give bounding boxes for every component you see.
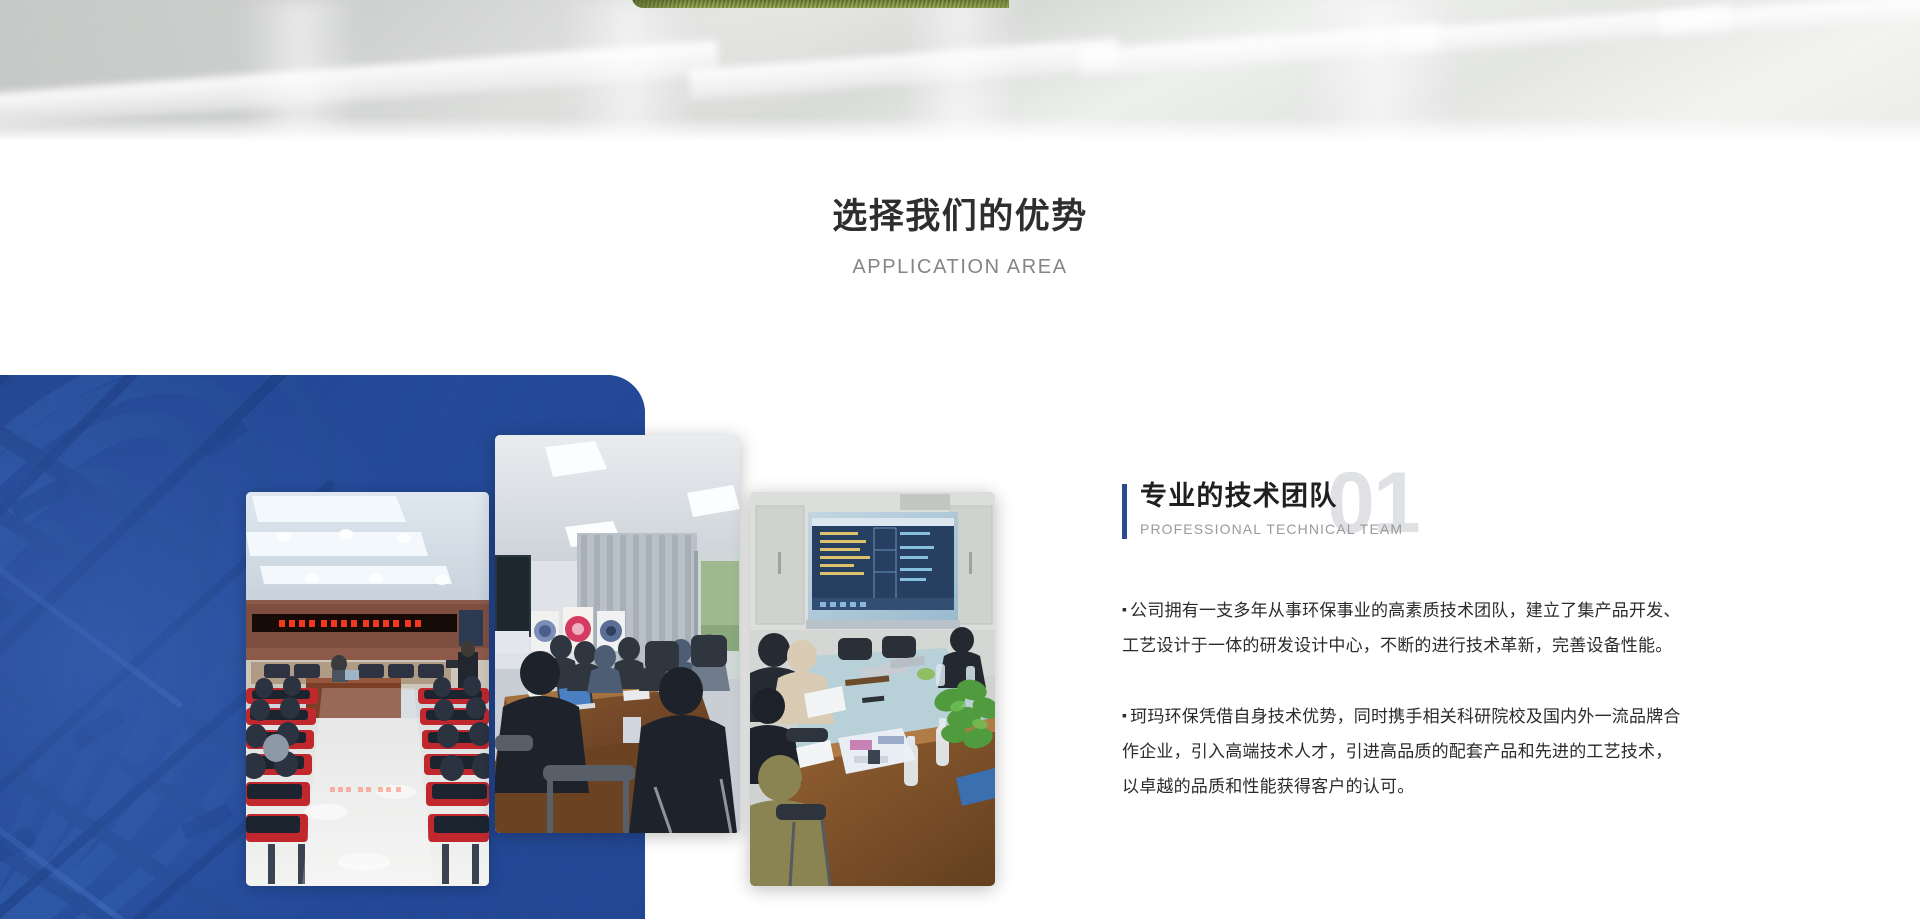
training-photo-graphic	[750, 492, 995, 886]
auditorium-photo-graphic	[246, 492, 489, 886]
section-header: 选择我们的优势 APPLICATION AREA	[0, 196, 1920, 279]
feature-heading-cn: 专业的技术团队	[1140, 480, 1682, 514]
auditorium-meeting-photo	[246, 492, 489, 886]
feature-heading-row: 01 专业的技术团队 PROFESSIONAL TECHNICAL TEAM	[1122, 480, 1682, 552]
grass-strip-image	[632, 0, 1009, 8]
banner-bottom-fade	[0, 117, 1920, 143]
section-subtitle: APPLICATION AREA	[0, 256, 1920, 279]
feature-paragraph-2-text: 珂玛环保凭借自身技术优势，同时携手相关科研院校及国内外一流品牌合作企业，引入高端…	[1122, 707, 1681, 796]
feature-paragraph-2: ▪珂玛环保凭借自身技术优势，同时携手相关科研院校及国内外一流品牌合作企业，引入高…	[1122, 698, 1682, 804]
page-root: 选择我们的优势 APPLICATION AREA	[0, 0, 1920, 919]
bullet-glyph: ▪	[1122, 601, 1127, 617]
training-presentation-photo	[750, 492, 995, 886]
feature-paragraph-1: ▪公司拥有一支多年从事环保事业的高素质技术团队，建立了集产品开发、工艺设计于一体…	[1122, 592, 1682, 663]
feature-paragraph-1-text: 公司拥有一支多年从事环保事业的高素质技术团队，建立了集产品开发、工艺设计于一体的…	[1122, 601, 1681, 655]
section-title: 选择我们的优势	[0, 196, 1920, 238]
conference-room-photo	[495, 435, 740, 833]
feature-content: 01 专业的技术团队 PROFESSIONAL TECHNICAL TEAM ▪…	[1122, 480, 1682, 804]
top-banner-image	[0, 0, 1920, 143]
accent-bar	[1122, 484, 1127, 539]
conference-photo-graphic	[495, 435, 740, 833]
feature-heading-en: PROFESSIONAL TECHNICAL TEAM	[1140, 521, 1682, 537]
bullet-glyph: ▪	[1122, 707, 1127, 723]
